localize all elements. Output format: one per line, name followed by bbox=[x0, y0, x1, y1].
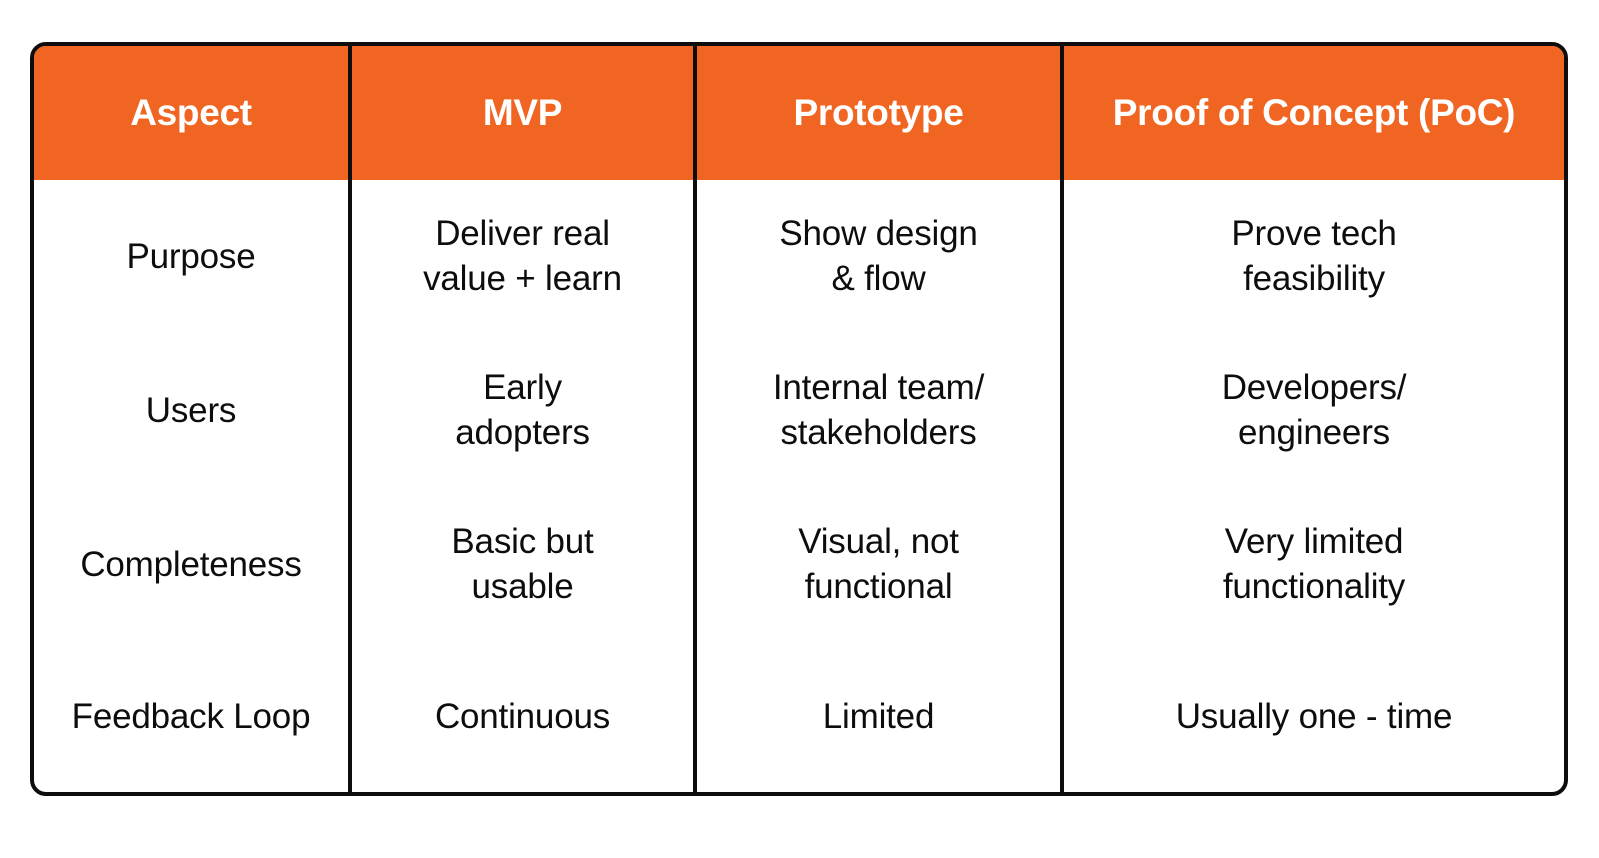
comparison-table-frame: Aspect MVP Prototype Proof of Concept (P… bbox=[30, 42, 1568, 796]
table-header: Aspect MVP Prototype Proof of Concept (P… bbox=[34, 46, 1564, 180]
column-header-poc: Proof of Concept (PoC) bbox=[1062, 46, 1564, 180]
table-row: Completeness Basic but usable Visual, no… bbox=[34, 488, 1564, 642]
cell-line: Continuous bbox=[362, 695, 683, 740]
cell-mvp-purpose: Deliver real value + learn bbox=[350, 180, 695, 334]
cell-line: adopters bbox=[362, 411, 683, 456]
cell-prototype-feedback-loop: Limited bbox=[695, 642, 1062, 792]
cell-line: functionality bbox=[1074, 565, 1554, 610]
cell-prototype-completeness: Visual, not functional bbox=[695, 488, 1062, 642]
cell-poc-users: Developers/ engineers bbox=[1062, 334, 1564, 488]
cell-poc-completeness: Very limited functionality bbox=[1062, 488, 1564, 642]
cell-prototype-purpose: Show design & flow bbox=[695, 180, 1062, 334]
cell-line: Very limited bbox=[1074, 520, 1554, 565]
cell-aspect-completeness: Completeness bbox=[34, 488, 350, 642]
cell-line: & flow bbox=[707, 257, 1050, 302]
cell-line: Usually one - time bbox=[1074, 695, 1554, 740]
cell-line: Limited bbox=[707, 695, 1050, 740]
cell-poc-feedback-loop: Usually one - time bbox=[1062, 642, 1564, 792]
cell-line: Early bbox=[362, 366, 683, 411]
cell-prototype-users: Internal team/ stakeholders bbox=[695, 334, 1062, 488]
cell-mvp-completeness: Basic but usable bbox=[350, 488, 695, 642]
page-canvas: Aspect MVP Prototype Proof of Concept (P… bbox=[0, 0, 1599, 858]
header-row: Aspect MVP Prototype Proof of Concept (P… bbox=[34, 46, 1564, 180]
cell-line: engineers bbox=[1074, 411, 1554, 456]
cell-line: Visual, not bbox=[707, 520, 1050, 565]
table-row: Purpose Deliver real value + learn Show … bbox=[34, 180, 1564, 334]
cell-line: Prove tech bbox=[1074, 212, 1554, 257]
cell-mvp-users: Early adopters bbox=[350, 334, 695, 488]
cell-line: usable bbox=[362, 565, 683, 610]
column-header-aspect: Aspect bbox=[34, 46, 350, 180]
cell-line: functional bbox=[707, 565, 1050, 610]
cell-line: Deliver real bbox=[362, 212, 683, 257]
table-body: Purpose Deliver real value + learn Show … bbox=[34, 180, 1564, 792]
cell-line: Developers/ bbox=[1074, 366, 1554, 411]
cell-poc-purpose: Prove tech feasibility bbox=[1062, 180, 1564, 334]
cell-line: Basic but bbox=[362, 520, 683, 565]
comparison-table: Aspect MVP Prototype Proof of Concept (P… bbox=[34, 46, 1564, 792]
cell-line: stakeholders bbox=[707, 411, 1050, 456]
cell-line: feasibility bbox=[1074, 257, 1554, 302]
cell-mvp-feedback-loop: Continuous bbox=[350, 642, 695, 792]
column-header-mvp: MVP bbox=[350, 46, 695, 180]
table-row: Users Early adopters Internal team/ stak… bbox=[34, 334, 1564, 488]
cell-line: Show design bbox=[707, 212, 1050, 257]
table-row: Feedback Loop Continuous Limited Usually… bbox=[34, 642, 1564, 792]
column-header-prototype: Prototype bbox=[695, 46, 1062, 180]
cell-aspect-feedback-loop: Feedback Loop bbox=[34, 642, 350, 792]
cell-line: value + learn bbox=[362, 257, 683, 302]
cell-aspect-purpose: Purpose bbox=[34, 180, 350, 334]
cell-line: Internal team/ bbox=[707, 366, 1050, 411]
cell-aspect-users: Users bbox=[34, 334, 350, 488]
